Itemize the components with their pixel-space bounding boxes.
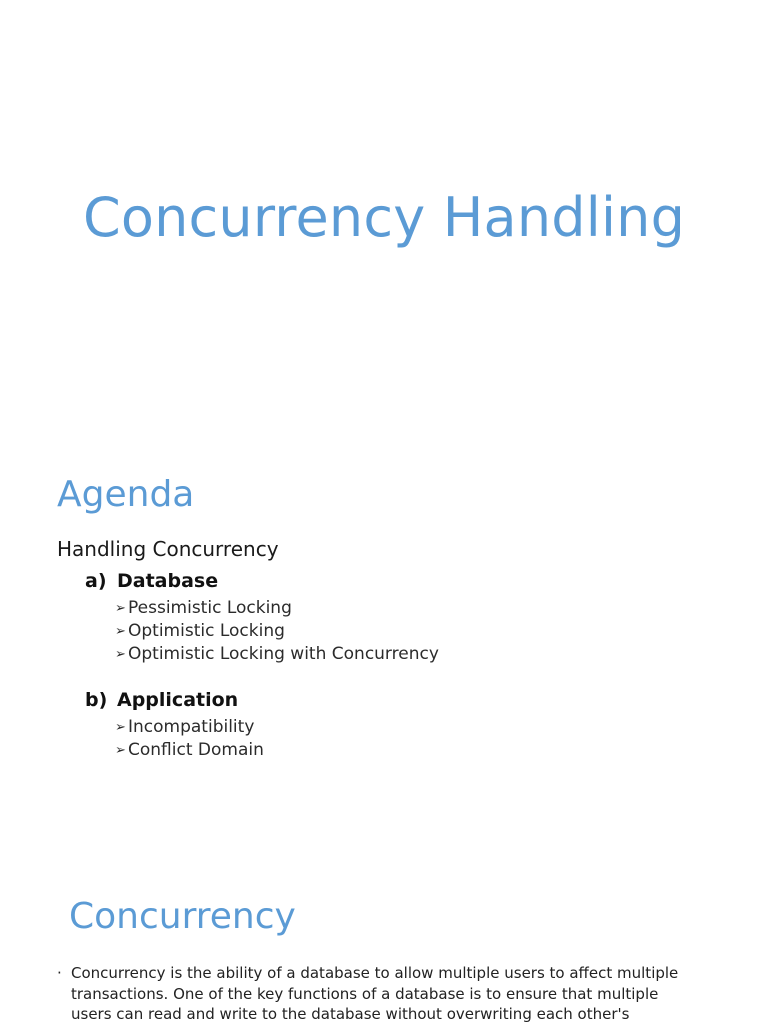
agenda-body: Handling Concurrency a) Database ➢ Pessi… bbox=[57, 537, 717, 763]
concurrency-heading: Concurrency bbox=[69, 898, 729, 937]
agenda-group-heading: b) Application bbox=[85, 688, 717, 714]
arrow-bullet-icon: ➢ bbox=[115, 602, 128, 615]
list-item: ➢ Optimistic Locking bbox=[115, 620, 717, 643]
concurrency-slide: Concurrency · Concurrency is the ability… bbox=[69, 898, 729, 1024]
agenda-group-heading: a) Database bbox=[85, 569, 717, 595]
concurrency-body-list: · Concurrency is the ability of a databa… bbox=[57, 963, 729, 1024]
agenda-sublist-application: ➢ Incompatibility ➢ Conflict Domain bbox=[57, 716, 717, 763]
arrow-bullet-icon: ➢ bbox=[115, 648, 128, 661]
agenda-group-marker: b) bbox=[85, 688, 117, 714]
title-slide: Concurrency Handling bbox=[0, 155, 768, 281]
list-item: ➢ Incompatibility bbox=[115, 716, 717, 739]
list-item-label: Optimistic Locking with Concurrency bbox=[128, 643, 439, 666]
agenda-group-marker: a) bbox=[85, 569, 117, 595]
agenda-group-label: Application bbox=[117, 688, 238, 714]
list-item-label: Optimistic Locking bbox=[128, 620, 285, 643]
arrow-bullet-icon: ➢ bbox=[115, 625, 128, 638]
list-item-label: Incompatibility bbox=[128, 716, 254, 739]
list-item-label: Conflict Domain bbox=[128, 739, 264, 762]
body-paragraph: Concurrency is the ability of a database… bbox=[71, 963, 683, 1024]
agenda-group-label: Database bbox=[117, 569, 218, 595]
agenda-slide: Agenda Handling Concurrency a) Database … bbox=[57, 476, 717, 762]
agenda-heading: Agenda bbox=[57, 476, 717, 515]
list-item: ➢ Optimistic Locking with Concurrency bbox=[115, 643, 717, 666]
agenda-group-database: a) Database ➢ Pessimistic Locking ➢ Opti… bbox=[57, 569, 717, 667]
dot-bullet-icon: · bbox=[57, 963, 71, 984]
arrow-bullet-icon: ➢ bbox=[115, 744, 128, 757]
document-page: Concurrency Handling Agenda Handling Con… bbox=[0, 0, 768, 1024]
agenda-group-application: b) Application ➢ Incompatibility ➢ Confl… bbox=[57, 688, 717, 763]
list-item: ➢ Conflict Domain bbox=[115, 739, 717, 762]
agenda-lead-text: Handling Concurrency bbox=[57, 537, 717, 561]
page-title: Concurrency Handling bbox=[83, 191, 685, 245]
list-item-label: Pessimistic Locking bbox=[128, 597, 292, 620]
list-item: ➢ Pessimistic Locking bbox=[115, 597, 717, 620]
arrow-bullet-icon: ➢ bbox=[115, 721, 128, 734]
agenda-sublist-database: ➢ Pessimistic Locking ➢ Optimistic Locki… bbox=[57, 597, 717, 667]
list-item: · Concurrency is the ability of a databa… bbox=[57, 963, 729, 1024]
